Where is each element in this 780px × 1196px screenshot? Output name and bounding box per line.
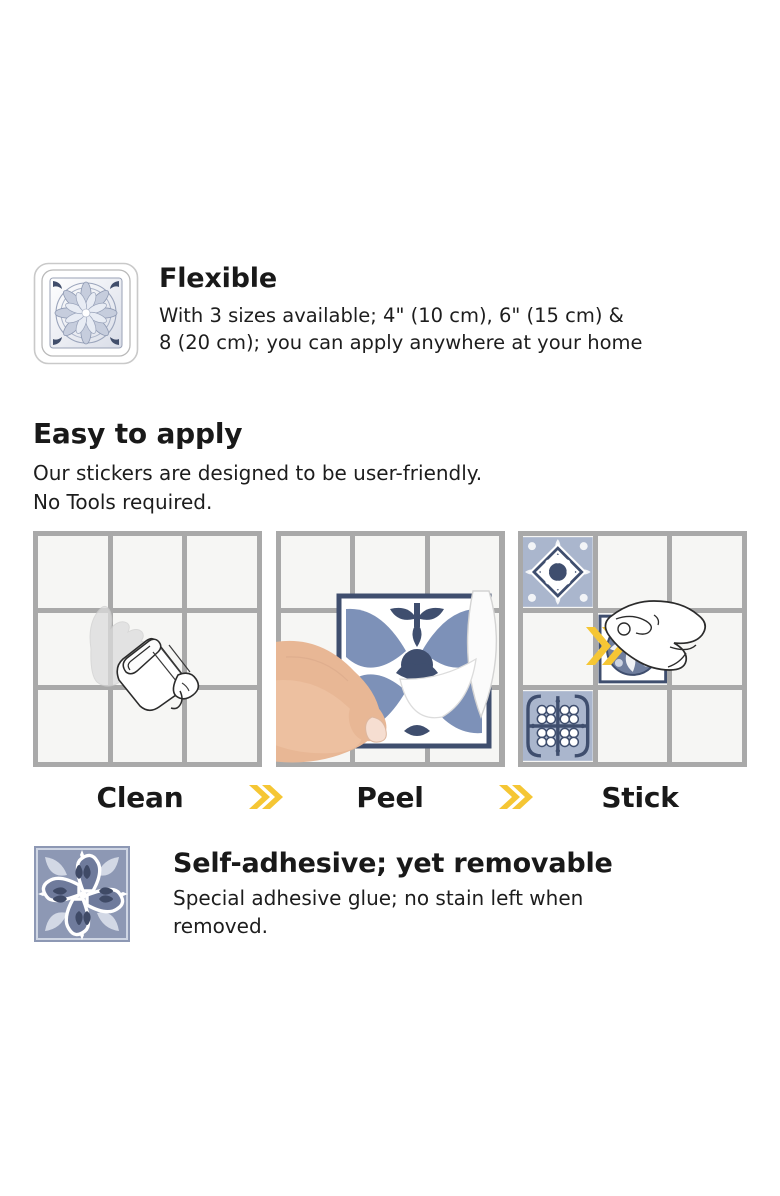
tile-wall-with-sticker (276, 531, 505, 767)
tile (355, 690, 425, 762)
easy-to-apply-body: Our stickers are designed to be user-fri… (33, 459, 733, 516)
infographic-page: Flexible With 3 sizes available; 4" (10 … (0, 0, 780, 1196)
step-label-stick: Stick (533, 781, 747, 814)
tile-pattern-diamond (523, 536, 593, 608)
tile (430, 536, 500, 608)
tile (598, 690, 668, 762)
steps-illustration-row (33, 531, 747, 767)
tile (113, 690, 183, 762)
self-adhesive-heading: Self-adhesive; yet removable (173, 849, 747, 879)
tile (355, 536, 425, 608)
tile-wall-plain (33, 531, 262, 767)
tile (672, 613, 742, 685)
self-adhesive-text-group: Self-adhesive; yet removable Special adh… (173, 849, 747, 940)
tile-pattern-being-applied (598, 613, 668, 685)
self-adhesive-body: Special adhesive glue; no stain left whe… (173, 885, 747, 940)
double-chevron-right-icon (497, 782, 533, 812)
tile (281, 613, 351, 685)
tile-wall-decorated (518, 531, 747, 767)
tile (355, 613, 425, 685)
step-panel-stick (518, 531, 747, 767)
step-labels-row: Clean Peel Stick (33, 775, 747, 819)
self-adhesive-section: Self-adhesive; yet removable Special adh… (33, 845, 747, 955)
easy-to-apply-heading: Easy to apply (33, 418, 733, 449)
tile (113, 536, 183, 608)
flexible-heading: Flexible (159, 264, 747, 294)
tile (38, 536, 108, 608)
tile (113, 613, 183, 685)
step-panel-peel (276, 531, 505, 767)
double-chevron-right-icon (247, 782, 283, 812)
quatrefoil-tile-swatch-icon (33, 845, 133, 945)
flexible-body: With 3 sizes available; 4" (10 cm), 6" (… (159, 303, 747, 357)
tile (187, 613, 257, 685)
tile (598, 536, 668, 608)
tile (38, 613, 108, 685)
tile (187, 690, 257, 762)
tile-pattern-quatrefoil-grid (523, 690, 593, 762)
flexible-text-group: Flexible With 3 sizes available; 4" (10 … (159, 264, 747, 357)
flexible-tile-swatch-icon (33, 262, 139, 370)
step-panel-clean (33, 531, 262, 767)
step-label-peel: Peel (283, 781, 497, 814)
tile (281, 690, 351, 762)
tile (672, 690, 742, 762)
step-label-clean: Clean (33, 781, 247, 814)
easy-to-apply-section: Easy to apply Our stickers are designed … (33, 418, 733, 516)
tile (523, 613, 593, 685)
tile (38, 690, 108, 762)
tile (430, 690, 500, 762)
tile (430, 613, 500, 685)
step-separator-1 (247, 782, 283, 812)
flexible-section: Flexible With 3 sizes available; 4" (10 … (33, 262, 747, 382)
step-separator-2 (497, 782, 533, 812)
tile (281, 536, 351, 608)
tile (672, 536, 742, 608)
tile (187, 536, 257, 608)
